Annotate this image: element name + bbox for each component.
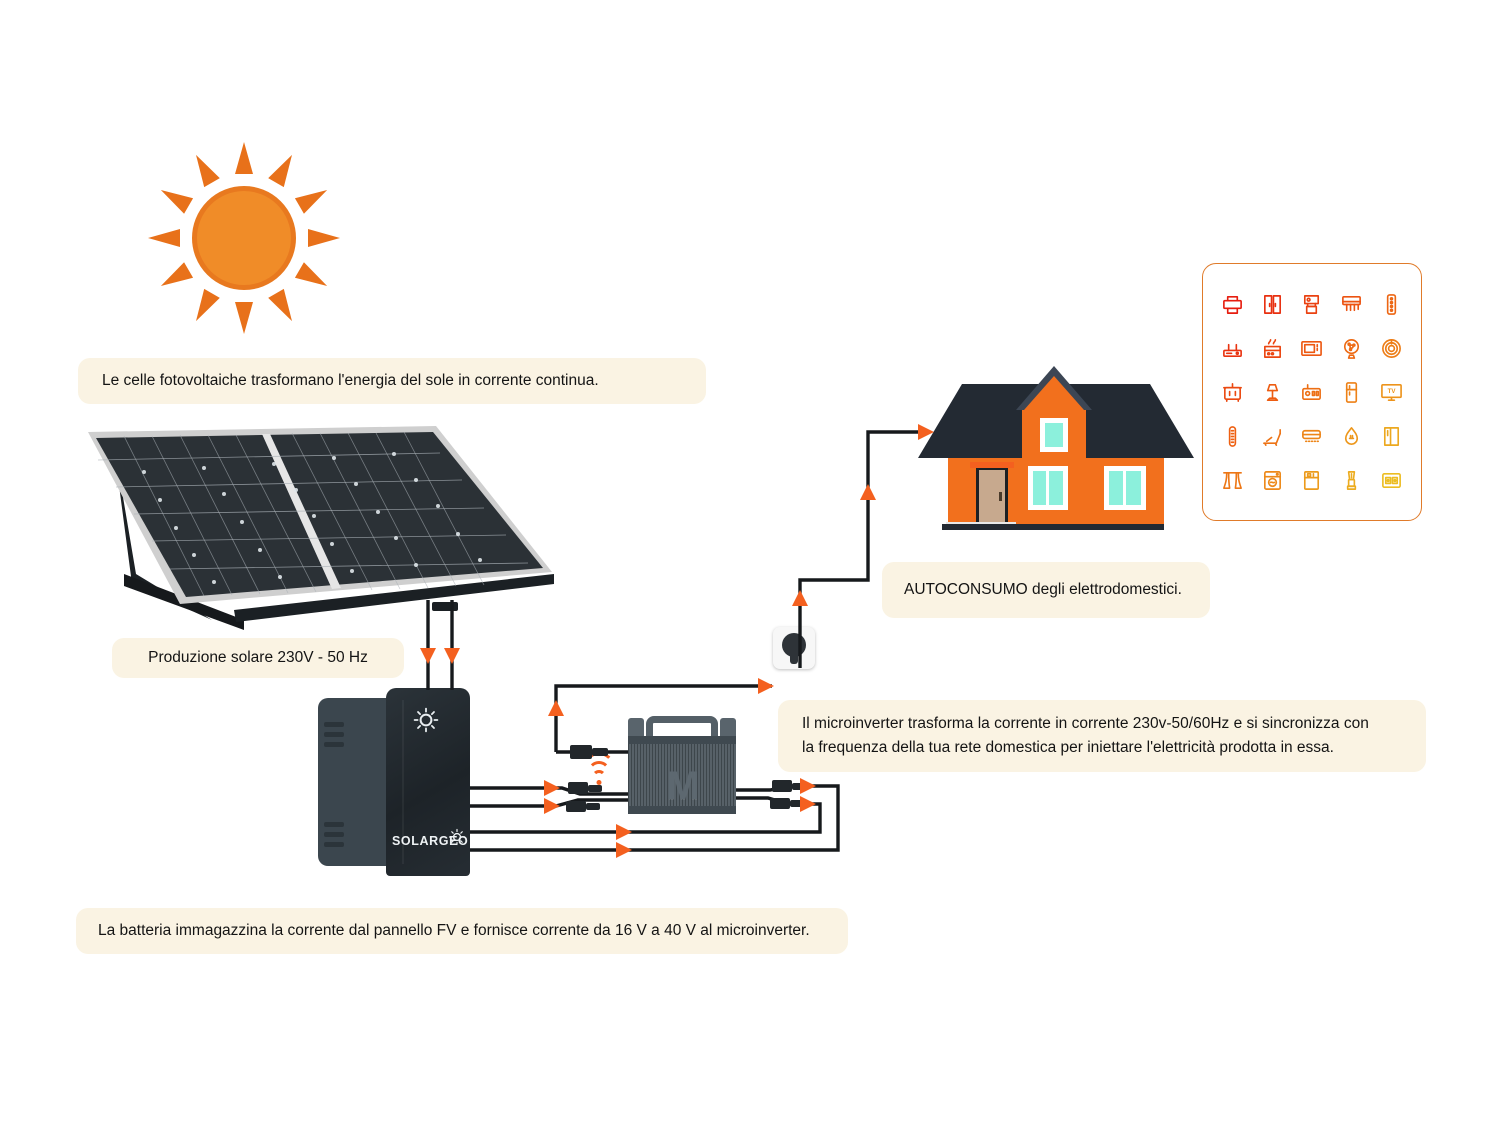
appliance-cell[interactable] [1371, 326, 1411, 370]
callout-microinverter-line2: la frequenza della tua rete domestica pe… [802, 739, 1334, 756]
appliance-cell[interactable] [1253, 370, 1293, 414]
sun-ray [156, 182, 193, 214]
sun-ray [308, 229, 340, 247]
radio-icon [1300, 381, 1323, 404]
callout-pv-cells: Le celle fotovoltaiche trasformano l'ene… [78, 358, 706, 404]
appliance-cell[interactable] [1371, 414, 1411, 458]
washing-machine-icon [1261, 469, 1284, 492]
solar-panel [84, 424, 564, 636]
remote-control-icon [1380, 293, 1403, 316]
callout-production-text: Produzione solare 230V - 50 Hz [148, 646, 368, 670]
diagram-canvas: SOLARGEO M [0, 0, 1500, 1125]
appliance-icon-grid: TV [1202, 263, 1422, 521]
microinverter-unit: M [628, 716, 736, 814]
wardrobe-icon [1261, 293, 1284, 316]
dishwasher-icon [1300, 469, 1323, 492]
refrigerator-icon [1340, 381, 1363, 404]
callout-self-consumption-text: AUTOCONSUMO degli elettrodomestici. [904, 578, 1182, 602]
callout-pv-cells-text: Le celle fotovoltaiche trasformano l'ene… [102, 369, 599, 393]
appliance-cell[interactable] [1371, 282, 1411, 326]
sun-ray [148, 229, 180, 247]
blender-icon [1340, 469, 1363, 492]
induction-hob-icon [1380, 337, 1403, 360]
appliance-cell[interactable] [1332, 282, 1372, 326]
callout-self-consumption: AUTOCONSUMO degli elettrodomestici. [882, 562, 1210, 618]
appliance-cell[interactable] [1292, 326, 1332, 370]
sun-ray [295, 262, 332, 294]
socket-panel-icon [1380, 469, 1403, 492]
appliance-cell[interactable] [1213, 282, 1253, 326]
battery-front-face: SOLARGEO [386, 688, 470, 876]
sun-ray [188, 289, 220, 326]
sun-ray [235, 142, 253, 174]
appliance-cell[interactable] [1332, 370, 1372, 414]
stove-icon [1261, 337, 1284, 360]
appliance-cell[interactable] [1213, 370, 1253, 414]
rice-cooker-icon [1221, 381, 1244, 404]
water-dispenser-icon [1300, 293, 1323, 316]
house-illustration [918, 362, 1194, 532]
svg-text:TV: TV [1387, 388, 1396, 395]
appliance-cell[interactable] [1253, 458, 1293, 502]
microinverter-logo: M [628, 764, 736, 809]
appliance-cell[interactable] [1213, 414, 1253, 458]
heater-icon [1221, 425, 1244, 448]
microwave-icon [1300, 337, 1323, 360]
water-heater-icon [1340, 425, 1363, 448]
curtain-icon [1221, 469, 1244, 492]
appliance-cell[interactable] [1371, 458, 1411, 502]
appliance-cell[interactable] [1292, 282, 1332, 326]
router-icon [1221, 337, 1244, 360]
callout-microinverter: Il microinverter trasforma la corrente i… [778, 700, 1426, 772]
tv-icon: TV [1380, 381, 1403, 404]
treadmill-icon [1261, 425, 1284, 448]
appliance-cell[interactable] [1292, 370, 1332, 414]
appliance-cell[interactable] [1253, 414, 1293, 458]
fan-icon [1340, 337, 1363, 360]
appliance-cell[interactable] [1292, 414, 1332, 458]
callout-battery-text: La batteria immagazzina la corrente dal … [98, 919, 810, 943]
battery-unit: SOLARGEO [318, 688, 470, 876]
microinverter-body: M [628, 736, 736, 814]
appliance-cell[interactable]: TV [1371, 370, 1411, 414]
sun-ray [268, 150, 300, 187]
appliance-cell[interactable] [1253, 282, 1293, 326]
sun-ray [156, 262, 193, 294]
printer-icon [1221, 293, 1244, 316]
appliance-cell[interactable] [1213, 458, 1253, 502]
appliance-cell[interactable] [1332, 326, 1372, 370]
sun-ray [268, 289, 300, 326]
appliance-cell[interactable] [1332, 458, 1372, 502]
appliance-cell[interactable] [1292, 458, 1332, 502]
air-conditioner-icon [1340, 293, 1363, 316]
callout-production: Produzione solare 230V - 50 Hz [112, 638, 404, 678]
sun-ray [188, 150, 220, 187]
towel-rail-icon [1380, 425, 1403, 448]
callout-microinverter-line1: Il microinverter trasforma la corrente i… [802, 715, 1369, 732]
callout-battery: La batteria immagazzina la corrente dal … [76, 908, 848, 954]
appliance-cell[interactable] [1332, 414, 1372, 458]
split-ac-icon [1300, 425, 1323, 448]
wifi-icon [584, 760, 614, 784]
table-lamp-icon [1261, 381, 1284, 404]
sun-ray [295, 182, 332, 214]
sun-icon [148, 142, 340, 334]
callout-microinverter-text: Il microinverter trasforma la corrente i… [802, 712, 1369, 760]
plug-icon [782, 633, 806, 657]
sun-ray [235, 302, 253, 334]
appliance-cell[interactable] [1253, 326, 1293, 370]
sun-core [192, 186, 296, 290]
appliance-cell[interactable] [1213, 326, 1253, 370]
power-outlet [773, 627, 815, 669]
